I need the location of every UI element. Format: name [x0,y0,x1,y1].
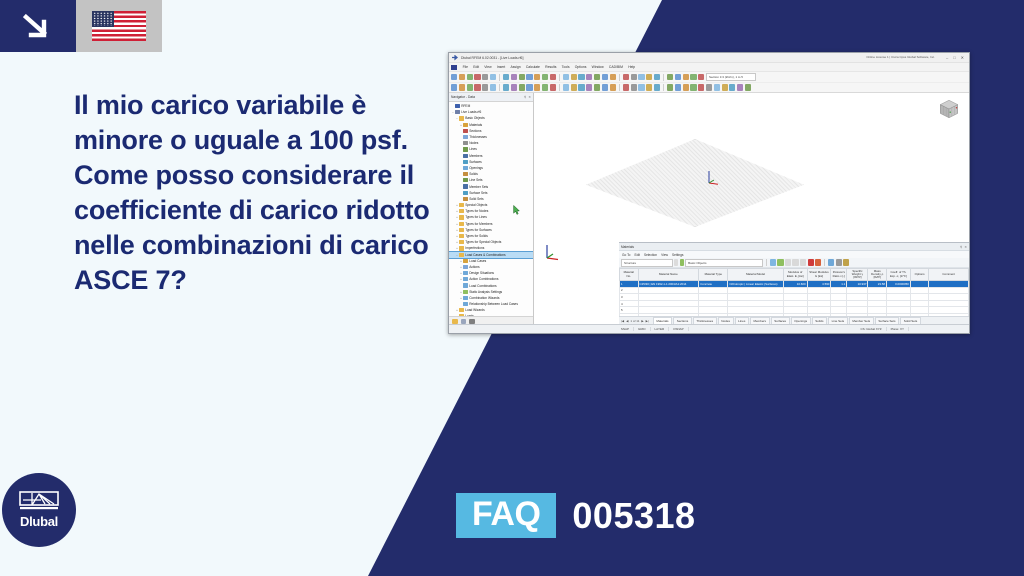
separator [559,84,560,91]
new-icon[interactable] [451,74,457,80]
tree-node-icon [463,259,468,263]
table-cell[interactable] [847,294,868,301]
navigator-item-label: Types for Special Objects [465,240,501,244]
toolbar-button-16-icon[interactable] [563,84,569,90]
table-cell[interactable] [847,300,868,307]
node-icon[interactable] [451,84,457,90]
navigator-item-label: Load Cases [469,259,486,263]
table-cell[interactable] [868,313,887,316]
last-record-icon[interactable]: ▶| [646,319,649,323]
toolbar-button-14-icon[interactable] [550,74,556,80]
solid-icon[interactable] [482,84,488,90]
table-cell[interactable] [699,300,728,307]
record-counter: 1 of 11 [630,319,639,323]
table-cell[interactable] [831,294,847,301]
section-info-field[interactable]: Section 3.3 (kN/m), 1 to 5 [706,73,756,81]
separator [499,74,500,81]
column-icon[interactable] [792,259,798,265]
menu-app-icon [451,65,457,70]
window-license-text: Online License 1 | Civca Cpss Global Sof… [866,56,935,59]
table-cell[interactable] [929,300,969,307]
cut-icon[interactable] [490,74,496,80]
materials-menu-edit[interactable]: Edit [634,253,640,257]
navigator-item-label: Basic Objects [465,116,485,120]
structure-filter-select[interactable]: Structure [621,259,673,267]
navigator-item-label: RFEM [461,104,470,108]
materials-table-scroll[interactable]: Material No.Material NameMaterial TypeMa… [619,268,969,316]
toolbar-button-28-icon[interactable] [654,84,660,90]
tree-node-icon [463,135,468,139]
navigator-actions[interactable]: ⚲ ✕ [524,95,531,99]
toolbar-button-10-icon[interactable] [519,74,525,80]
navigator-item-label: Special Objects [465,203,487,207]
toolbar-button-11-icon[interactable] [526,84,532,90]
menu-item-insert[interactable]: Insert [494,65,508,69]
navigator-item-label: Types for Nodes [465,209,488,213]
nav-tab-views-icon[interactable] [469,319,475,324]
toolbar-button-22-icon[interactable] [610,84,616,90]
materials-menu-goto[interactable]: Go To [622,253,630,257]
navigator-item-label: Relationship Between Load Cases [469,302,518,306]
toolbar-button-28-icon[interactable] [654,74,660,80]
table-cell[interactable]: 1.1 [831,281,847,288]
table-cell[interactable] [886,307,910,314]
toolbar-button-33-icon[interactable] [690,84,696,90]
toolbar-button-9-icon[interactable] [511,74,517,80]
us-flag-icon [92,11,146,41]
toolbar-button-31-icon[interactable] [675,84,681,90]
tree-node-icon [463,296,468,300]
nav-tab-data-icon[interactable] [452,319,458,324]
navigator-item-label: Materials [469,123,482,127]
table-cell[interactable]: 1 [620,281,639,288]
tree-node-icon [463,277,468,281]
separator [663,74,664,81]
toolbar-button-34-icon[interactable] [698,74,704,80]
table-cell[interactable]: 10.937 [847,281,868,288]
table-cell[interactable] [807,287,831,294]
table-cell[interactable] [868,300,887,307]
toolbar-button-18-icon[interactable] [578,84,584,90]
table-cell[interactable] [831,300,847,307]
tree-node-icon [459,116,464,120]
separator [619,74,620,81]
navigator-item-label: Combination Wizards [469,296,499,300]
tree-node-icon [463,154,468,158]
toolbar-button-13-icon[interactable] [542,84,548,90]
first-record-icon[interactable]: |◀ [621,319,624,323]
menu-item-results[interactable]: Results [543,65,560,69]
pin-icon[interactable]: ⚲ [960,245,962,249]
settings-icon[interactable] [843,259,849,265]
open-icon[interactable] [459,74,465,80]
table-cell[interactable]: Orthotropic | Linear Elastic (Surfaces) [728,281,783,288]
next-record-icon[interactable]: ▶ [641,319,643,323]
navigator-item-label: Line Sets [469,178,482,182]
toolbar-button-38-icon[interactable] [729,84,735,90]
toolbar-button-30-icon[interactable] [667,84,673,90]
table-cell[interactable]: Concrete [699,281,728,288]
menu-item-window[interactable]: Window [589,65,606,69]
materials-panel[interactable]: Materials ⚲ ✕ Go To Edit Selection View … [619,242,969,325]
table-cell[interactable] [847,287,868,294]
toolbar-button-9-icon[interactable] [511,84,517,90]
minimize-button[interactable]: – [946,56,948,60]
toolbar-button-12-icon[interactable] [534,84,540,90]
table-cell[interactable] [638,287,699,294]
navigator-item-label: Nodes [469,141,478,145]
navigator-item-label: Action Combinations [469,277,498,281]
navigator-title: Navigator - Data [451,95,475,99]
toolbar-button-18-icon[interactable] [578,74,584,80]
member-icon[interactable] [467,84,473,90]
toolbar-button-10-icon[interactable] [519,84,525,90]
table-cell[interactable] [831,313,847,316]
separator [766,259,767,266]
column-header[interactable]: Coeff. of Th. Exp. α, [1/°F] [886,269,910,281]
status-grid[interactable]: GRID [634,327,651,331]
table-cell[interactable]: 10.600 [783,281,807,288]
preview-icon[interactable] [482,74,488,80]
materials-toolbar[interactable]: Structure Basic Objects [619,258,969,268]
navigator-item-label: Sections [469,129,481,133]
toolbar-button-21-icon[interactable] [602,84,608,90]
column-header[interactable]: Mass Density ρ [lb/ft³] [868,269,887,281]
table-cell[interactable] [699,294,728,301]
tree-node-icon [459,240,464,244]
menu-item-tools[interactable]: Tools [559,65,572,69]
table-cell[interactable]: C25/30 | EN 1992-1-1:2004/A1:2014 [638,281,699,288]
toolbar-button-19-icon[interactable] [586,84,592,90]
table-cell[interactable] [886,313,910,316]
zoom-icon[interactable] [770,259,776,265]
model-origin-axes [706,169,720,185]
toolbar-button-24-icon[interactable] [623,74,629,80]
toolbar-button-20-icon[interactable] [594,74,600,80]
navigator-item-label: Load Combinations [469,284,496,288]
toolbar-button-27-icon[interactable] [646,74,652,80]
faq-badge: FAQ 005318 [456,493,696,538]
table-cell[interactable] [910,307,929,314]
table-cell[interactable] [929,294,969,301]
table-cell[interactable] [831,307,847,314]
refresh-icon[interactable] [680,259,684,265]
delete-icon[interactable] [808,259,814,265]
table-cell[interactable]: 2 [620,287,639,294]
load-icon[interactable] [490,84,496,90]
table-cell[interactable] [728,294,783,301]
table-row-empty[interactable]: 5 [620,307,969,314]
faq-number: 005318 [572,498,695,534]
toolbar-button-17-icon[interactable] [571,84,577,90]
close-icon[interactable]: ✕ [964,245,967,249]
column-header[interactable]: Material Name [638,269,699,281]
toolbar-button-20-icon[interactable] [594,84,600,90]
tree-node-icon [463,123,468,127]
save-icon[interactable] [467,74,473,80]
table-cell[interactable] [886,300,910,307]
toolbar-button-8-icon[interactable] [503,84,509,90]
materials-panel-actions[interactable]: ⚲ ✕ [960,245,967,249]
table-row-empty[interactable]: 3 [620,294,969,301]
toolbar-button-26-icon[interactable] [638,74,644,80]
toolbar-button-25-icon[interactable] [631,84,637,90]
navigator-item-label: Solids [469,172,478,176]
toolbar-button-26-icon[interactable] [638,84,644,90]
toolbar-button-24-icon[interactable] [623,84,629,90]
line-icon[interactable] [459,84,465,90]
menu-item-edit[interactable]: Edit [471,65,482,69]
table-cell[interactable]: 23.58 [868,281,887,288]
toolbar-button-32-icon[interactable] [683,74,689,80]
toolbar-button-40-icon[interactable] [745,84,751,90]
object-filter-select[interactable]: Basic Objects [685,259,763,267]
table-cell[interactable] [728,287,783,294]
navigator-item-label: Surfaces [469,160,482,164]
toolbar-button-19-icon[interactable] [586,74,592,80]
menu-bar[interactable]: File Edit View Insert Assign Calculate R… [449,63,969,72]
materials-title-label: Materials [621,245,634,249]
color-icon[interactable] [815,259,821,265]
model-surface-slab[interactable] [586,139,804,227]
column-header[interactable]: Poisson's Ratio ν [-] [831,269,847,281]
window-controls[interactable]: Online License 1 | Civca Cpss Global Sof… [866,56,966,60]
app-title: Dlubal RFEM 6.02.0031 - [Live Loads.rf6] [461,56,523,60]
navigator-panel[interactable]: Navigator - Data ⚲ ✕ RFEM−Live Loads.rf6… [449,93,534,325]
select-all-icon[interactable] [777,259,783,265]
status-snap[interactable]: SNAP [617,327,634,331]
tree-node-icon [459,253,464,257]
separator [499,84,500,91]
menu-item-view[interactable]: View [482,65,494,69]
table-cell[interactable] [847,313,868,316]
navigator-item-label: Openings [469,166,483,170]
column-header[interactable]: Material No. [620,269,639,281]
tree-node-icon [455,110,460,114]
toolbar-button-34-icon[interactable] [698,84,704,90]
toolbar-button-31-icon[interactable] [675,74,681,80]
tree-node-icon [459,203,464,207]
table-cell[interactable] [929,281,969,288]
table-cell[interactable] [807,294,831,301]
table-cell[interactable] [699,307,728,314]
table-cell[interactable] [910,300,929,307]
toolbar-button-22-icon[interactable] [610,74,616,80]
tree-node-icon [463,166,468,170]
table-cell[interactable] [638,294,699,301]
toolbar-button-39-icon[interactable] [737,84,743,90]
toolbar-button-27-icon[interactable] [646,84,652,90]
column-header[interactable]: Shear Modulus G [ksi] [807,269,831,281]
navigator-item-label: Types for Surfaces [465,228,492,232]
table-row-empty[interactable]: 6 [620,313,969,316]
toolbar-button-16-icon[interactable] [563,74,569,80]
table-cell[interactable]: 0.0000050 [886,281,910,288]
close-icon[interactable]: ✕ [528,95,531,99]
column-header[interactable]: Options [910,269,929,281]
menu-item-calculate[interactable]: Calculate [523,65,542,69]
close-button[interactable]: ✕ [961,56,964,60]
navigator-item-label: Live Loads.rf6 [461,110,481,114]
menu-item-assign[interactable]: Assign [508,65,523,69]
table-cell[interactable] [699,287,728,294]
surface-icon[interactable] [474,84,480,90]
tree-node-icon [463,178,468,182]
status-layer[interactable]: LAYER [651,327,670,331]
table-cell[interactable] [929,287,969,294]
table-cell[interactable] [807,313,831,316]
table-cell[interactable] [728,313,783,316]
table-cell[interactable] [638,307,699,314]
table-cell[interactable] [910,313,929,316]
tree-node-icon [463,191,468,195]
table-cell[interactable] [783,287,807,294]
toolbar-button-14-icon[interactable] [550,84,556,90]
maximize-button[interactable]: □ [953,56,955,60]
column-header[interactable]: Material Type [699,269,728,281]
toolbar-button-32-icon[interactable] [683,84,689,90]
table-cell[interactable] [807,300,831,307]
export-icon[interactable] [828,259,834,265]
navigator-item-label: Types for Lines [465,215,487,219]
column-header[interactable]: Modulus of Elast. E, [ksi] [783,269,807,281]
tree-node-icon [463,141,468,145]
table-row[interactable]: 1C25/30 | EN 1992-1-1:2004/A1:2014Concre… [620,281,969,288]
navigator-item-label: Surface Sets [469,191,487,195]
tree-node-icon [463,160,468,164]
language-flag-box[interactable] [76,0,162,52]
arrow-down-right-icon [22,14,52,40]
table-cell[interactable] [868,287,887,294]
dropdown-icon[interactable] [674,259,678,265]
table-cell[interactable] [807,307,831,314]
table-cell[interactable] [728,307,783,314]
table-cell[interactable] [910,294,929,301]
column-header[interactable]: Material Model [728,269,783,281]
menu-item-help[interactable]: Help [626,65,638,69]
toolbar-button-17-icon[interactable] [571,74,577,80]
table-row-empty[interactable]: 2 [620,287,969,294]
page-title: Il mio carico variabile è minore o ugual… [74,88,434,298]
model-viewport[interactable]: Materials ⚲ ✕ Go To Edit Selection View … [534,93,969,325]
table-cell[interactable] [868,294,887,301]
table-cell[interactable] [728,300,783,307]
record-pager[interactable]: |◀ ◀ 1 of 11 ▶ ▶| [621,319,649,323]
table-cell[interactable]: 5 [620,307,639,314]
table-cell[interactable] [638,313,699,316]
table-cell[interactable]: 6 [620,313,639,316]
faq-tag-label: FAQ [456,493,556,538]
toolbar-button-33-icon[interactable] [690,74,696,80]
row-icon[interactable] [800,259,806,265]
table-cell[interactable] [699,313,728,316]
tree-node-icon [463,283,468,287]
nav-tab-display-icon[interactable] [461,319,467,324]
navigator-item-label: Solid Sets [469,197,483,201]
menu-item-cadbim[interactable]: CAD/BIM [606,65,625,69]
table-cell[interactable] [783,300,807,307]
table-cell[interactable] [910,287,929,294]
menu-item-options[interactable]: Options [572,65,589,69]
materials-menu-bar[interactable]: Go To Edit Selection View Settings [619,251,969,258]
table-cell[interactable]: 4.590 [807,281,831,288]
materials-menu-selection[interactable]: Selection [644,253,657,257]
dlubal-logo[interactable]: Dlubal [2,473,76,547]
app-body: Navigator - Data ⚲ ✕ RFEM−Live Loads.rf6… [449,93,969,325]
table-row-empty[interactable]: 4 [620,300,969,307]
tree-node-icon [463,265,468,269]
column-header[interactable]: Specific Weight γ [lbf/ft³] [847,269,868,281]
navigator-item-label: Lines [469,147,477,151]
table-cell[interactable] [929,307,969,314]
print-icon[interactable] [474,74,480,80]
table-cell[interactable] [831,287,847,294]
table-cell[interactable] [910,281,929,288]
tree-node-icon [463,172,468,176]
corner-block [0,0,76,52]
table-cell[interactable] [783,307,807,314]
toolbar-button-8-icon[interactable] [503,74,509,80]
column-header[interactable]: Comment [929,269,969,281]
table-cell[interactable] [783,313,807,316]
table-cell[interactable] [886,287,910,294]
toolbar-button-25-icon[interactable] [631,74,637,80]
materials-menu-view[interactable]: View [661,253,668,257]
view-cube-icon[interactable] [938,99,960,119]
toolbar-button-12-icon[interactable] [534,74,540,80]
navigator-item-label: Member Sets [469,185,488,189]
slide-canvas: Il mio carico variabile è minore o ugual… [0,0,1024,576]
table-cell[interactable] [868,307,887,314]
navigator-item-label: Types for Members [465,222,492,226]
flag-stars [93,12,113,26]
app-titlebar: Dlubal RFEM 6.02.0031 - [Live Loads.rf6]… [449,53,969,63]
tree-node-icon [463,302,468,306]
table-cell[interactable]: 4 [620,300,639,307]
toolbar-button-36-icon[interactable] [714,84,720,90]
rfem-application-window[interactable]: Dlubal RFEM 6.02.0031 - [Live Loads.rf6]… [448,52,970,334]
grid-icon[interactable] [785,259,791,265]
tree-node-icon [463,197,468,201]
toolbar-button-35-icon[interactable] [706,84,712,90]
table-cell[interactable] [638,300,699,307]
table-cell[interactable] [929,313,969,316]
toolbar-button-13-icon[interactable] [542,74,548,80]
table-cell[interactable] [847,307,868,314]
table-cell[interactable] [886,294,910,301]
navigator-item-label: Types for Solids [465,234,488,238]
menu-item-file[interactable]: File [460,65,471,69]
status-bar: SNAP GRID LAYER OSNAP CS: Global XYZ Pla… [449,324,969,333]
materials-table: Material No.Material NameMaterial TypeMa… [619,268,969,316]
toolbar-button-37-icon[interactable] [722,84,728,90]
table-cell[interactable] [783,294,807,301]
table-cell[interactable]: 3 [620,294,639,301]
pin-icon[interactable]: ⚲ [524,95,526,99]
toolbar-button-11-icon[interactable] [526,74,532,80]
toolbar-button-21-icon[interactable] [602,74,608,80]
toolbar-secondary[interactable] [449,83,969,93]
toolbar-primary[interactable]: Section 3.3 (kN/m), 1 to 5 [449,72,969,83]
materials-menu-settings[interactable]: Settings [672,253,684,257]
navigator-item-label: Static Analysis Settings [469,290,502,294]
print-icon[interactable] [836,259,842,265]
status-osnap[interactable]: OSNAP [669,327,689,331]
navigator-header: Navigator - Data ⚲ ✕ [449,93,533,102]
status-coordinate-system: CS: Global XYZ [856,327,886,331]
toolbar-button-30-icon[interactable] [667,74,673,80]
prev-record-icon[interactable]: ◀ [626,319,628,323]
